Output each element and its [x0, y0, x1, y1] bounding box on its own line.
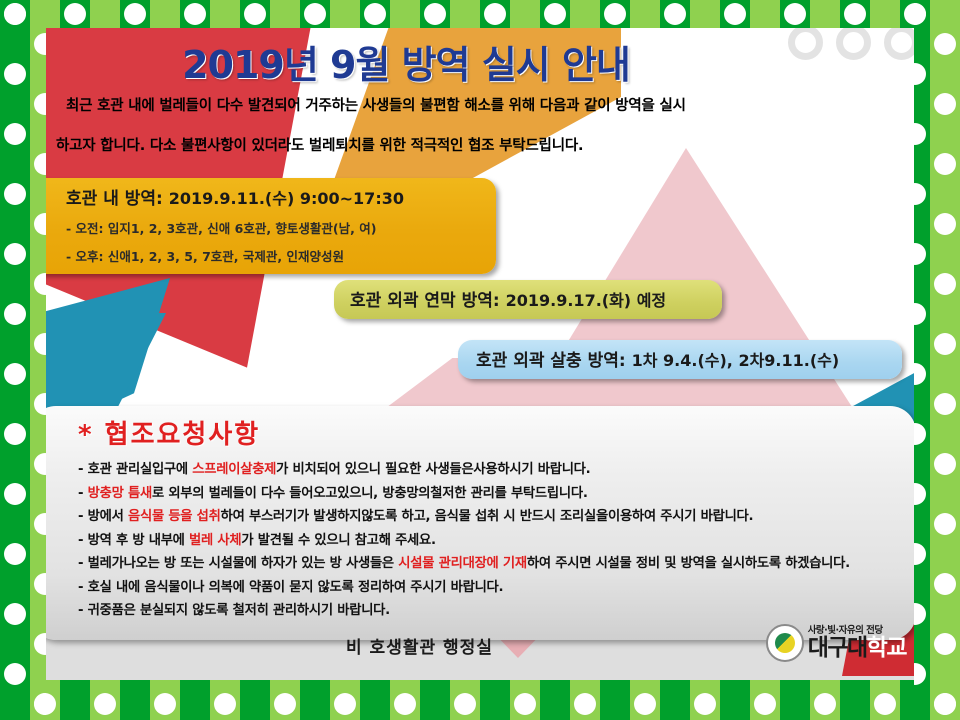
schedule-inside-heading: 호관 내 방역: 2019.9.11.(수) 9:00~17:30: [66, 184, 482, 209]
cooperation-list-item: - 방충망 틈새로 외부의 벌레들이 다수 들어오고있으니, 방충망의철저한 관…: [78, 482, 914, 506]
university-seal-icon: [766, 624, 804, 662]
university-slogan: 사랑·빛·자유의 전당: [808, 626, 906, 636]
plain-text: 가 비치되어 있으니 필요한 사생들은사용하시기 바랍니다.: [276, 462, 590, 477]
plain-text: -: [78, 486, 88, 501]
cooperation-list-item: - 호관 관리실입구에 스프레이살충제가 비치되어 있으니 필요한 사생들은사용…: [78, 458, 914, 482]
schedule-box-inside-building: 호관 내 방역: 2019.9.11.(수) 9:00~17:30 - 오전: …: [46, 178, 496, 274]
schedule-box-outdoor-insecticide: 호관 외곽 살충 방역: 1차 9.4.(수), 2차9.11.(수): [458, 340, 902, 379]
schedule-smoke-label: 호관 외곽 연막 방역:: [350, 291, 500, 311]
cooperation-list-item: - 호실 내에 음식물이나 의복에 약품이 묻지 않도록 정리하여 주시기 바랍…: [78, 576, 914, 600]
university-name: 대구대학교: [808, 637, 906, 660]
plain-text: 로 외부의 벌레들이 다수 들어오고있으니, 방충망의철저한 관리를 부탁드립니…: [152, 486, 588, 501]
circle-icon: [884, 28, 914, 60]
circle-icon: [788, 28, 823, 60]
plain-text: - 귀중품은 분실되지 않도록 철저히 관리하시기 바랍니다.: [78, 603, 390, 618]
schedule-insecticide-label: 호관 외곽 살충 방역:: [476, 351, 626, 371]
university-name-white: 학교: [867, 635, 906, 661]
poster-canvas: 2019년 9월 방역 실시 안내 최근 호관 내에 벌레들이 다수 발견되어 …: [46, 28, 914, 680]
intro-paragraph: 최근 호관 내에 벌레들이 다수 발견되어 거주하는 사생들의 불편함 해소를 …: [52, 86, 912, 166]
plain-text: - 방에서: [78, 509, 128, 524]
cooperation-list: - 호관 관리실입구에 스프레이살충제가 비치되어 있으니 필요한 사생들은사용…: [78, 458, 914, 623]
highlighted-text: 벌레 사체: [189, 533, 241, 548]
schedule-insecticide-heading: 호관 외곽 살충 방역: 1차 9.4.(수), 2차9.11.(수): [476, 346, 888, 371]
plain-text: - 호실 내에 음식물이나 의복에 약품이 묻지 않도록 정리하여 주시기 바랍…: [78, 580, 503, 595]
cooperation-panel: * 협조요청사항 - 호관 관리실입구에 스프레이살충제가 비치되어 있으니 필…: [46, 406, 914, 640]
plain-text: 하여 부스러기가 발생하지않도록 하고, 음식물 섭취 시 반드시 조리실을이용…: [221, 509, 754, 524]
schedule-smoke-value: 2019.9.17.(화) 예정: [506, 291, 667, 310]
plain-text: 가 발견될 수 있으니 참고해 주세요.: [241, 533, 435, 548]
plain-text: - 호관 관리실입구에: [78, 462, 192, 477]
intro-line-1: 최근 호관 내에 벌레들이 다수 발견되어 거주하는 사생들의 불편함 해소를 …: [52, 86, 912, 126]
schedule-box-smoke-fumigation: 호관 외곽 연막 방역: 2019.9.17.(화) 예정: [334, 280, 722, 319]
schedule-inside-morning: - 오전: 입지1, 2, 3호관, 신애 6호관, 향토생활관(남, 여): [66, 218, 482, 237]
intro-line-2: 하고자 합니다. 다소 불편사항이 있더라도 벌레퇴치를 위한 적극적인 협조 …: [52, 126, 912, 166]
schedule-inside-afternoon: - 오후: 신애1, 2, 3, 5, 7호관, 국제관, 인재양성원: [66, 246, 482, 265]
plain-text: 하여 주시면 시설물 정비 및 방역을 실시하도록 하겠습니다.: [527, 556, 850, 571]
schedule-insecticide-value: 1차 9.4.(수), 2차9.11.(수): [632, 351, 840, 370]
plain-text: - 방역 후 방 내부에: [78, 533, 189, 548]
university-logo-text: 사랑·빛·자유의 전당 대구대학교: [808, 626, 906, 661]
page-title: 2019년 9월 방역 실시 안내: [46, 34, 766, 89]
cooperation-panel-title: * 협조요청사항: [78, 414, 914, 451]
schedule-inside-label: 호관 내 방역:: [66, 189, 163, 209]
cooperation-list-item: - 방에서 음식물 등을 섭취하여 부스러기가 발생하지않도록 하고, 음식물 …: [78, 505, 914, 529]
plain-text: - 벌레가나오는 방 또는 시설물에 하자가 있는 방 사생들은: [78, 556, 398, 571]
decor-rings: [788, 28, 914, 60]
highlighted-text: 시설물 관리대장에 기재: [398, 556, 527, 571]
university-name-dark: 대구대: [808, 635, 867, 661]
highlighted-text: 방충망 틈새: [88, 486, 152, 501]
circle-icon: [836, 28, 871, 60]
cooperation-list-item: - 벌레가나오는 방 또는 시설물에 하자가 있는 방 사생들은 시설물 관리대…: [78, 552, 914, 576]
highlighted-text: 음식물 등을 섭취: [128, 509, 221, 524]
footer-office-name: 비 호생활관 행정실: [346, 633, 493, 658]
cooperation-list-item: - 귀중품은 분실되지 않도록 철저히 관리하시기 바랍니다.: [78, 599, 914, 623]
schedule-inside-value: 2019.9.11.(수) 9:00~17:30: [169, 189, 404, 208]
poster-root: 2019년 9월 방역 실시 안내 최근 호관 내에 벌레들이 다수 발견되어 …: [0, 0, 960, 720]
cooperation-list-item: - 방역 후 방 내부에 벌레 사체가 발견될 수 있으니 참고해 주세요.: [78, 529, 914, 553]
university-logo: 사랑·빛·자유의 전당 대구대학교: [766, 624, 906, 662]
schedule-smoke-heading: 호관 외곽 연막 방역: 2019.9.17.(화) 예정: [350, 286, 708, 311]
highlighted-text: 스프레이살충제: [192, 462, 276, 477]
